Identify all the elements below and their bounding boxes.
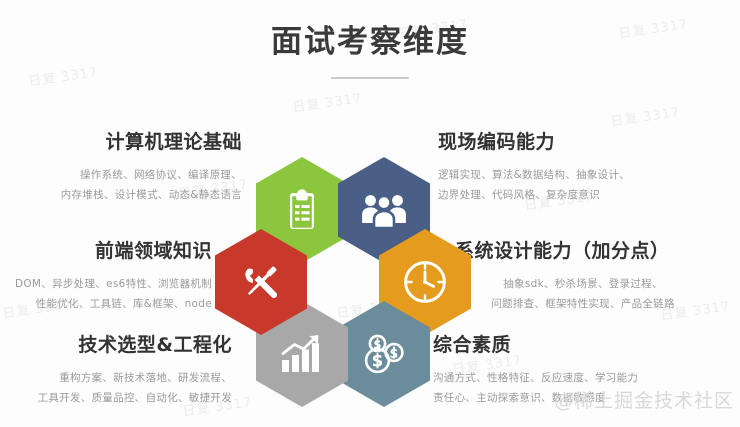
dimension-detail-line: 边界处理、代码风格、复杂度意识 [438,185,688,205]
dimension-title: 现场编码能力 [438,131,688,154]
dimension-title: 系统设计能力（加分点） [455,240,705,263]
dimension-detail-line: 操作系统、网络协议、编译原理、 [0,165,242,185]
dimension-detail-line: DOM、异步处理、es6特性、浏览器机制 [0,274,212,294]
dimension-block-coding: 现场编码能力 逻辑实现、算法&数据结构、抽象设计、 边界处理、代码风格、复杂度意… [438,131,688,206]
watermark-tile: 日复 3317 [291,87,363,116]
clipboard-icon [282,188,322,232]
dimension-detail-line: 重构方案、新技术落地、研发流程、 [0,368,232,388]
dimension-detail-line: 性能优化、工具链、库&框架、node [0,294,212,314]
dimension-title: 综合素质 [433,334,683,357]
bar-chart-icon [279,333,325,375]
dimension-detail-line: 问题排查、框架特性实现、产品全链路 [455,294,705,314]
clock-icon [402,259,448,305]
dimension-block-theory: 计算机理论基础 操作系统、网络协议、编译原理、 内存堆栈、设计模式、动态&静态语… [0,131,242,206]
people-icon [360,191,408,229]
dimension-detail-line: 责任心、主动探索意识、数据敏感度 [433,388,683,408]
dimension-title: 计算机理论基础 [0,131,242,154]
dimension-block-engineering: 技术选型&工程化 重构方案、新技术落地、研发流程、 工具开发、质量品控、自动化、… [0,334,232,409]
slide-header: 面试考察维度 [0,24,740,79]
money-icon: S S S [361,333,407,375]
dimension-detail-line: 逻辑实现、算法&数据结构、抽象设计、 [438,165,688,185]
title-divider [331,77,409,79]
dimension-title: 前端领域知识 [0,240,212,263]
dimension-title: 技术选型&工程化 [0,334,232,357]
dimension-block-frontend: 前端领域知识 DOM、异步处理、es6特性、浏览器机制 性能优化、工具链、库&框… [0,240,212,315]
watermark-tile: 日复 3317 [609,101,681,130]
dimension-detail-line: 工具开发、质量品控、自动化、敏捷开发 [0,388,232,408]
tools-icon [238,259,284,305]
dimension-block-overall-quality: 综合素质 沟通方式、性格特征、反应速度、学习能力 责任心、主动探索意识、数据敏感… [433,334,683,409]
dimension-detail-line: 沟通方式、性格特征、反应速度、学习能力 [433,368,683,388]
slide-canvas: 日复 3317 日复 3317 日复 3317 日复 3317 日复 3317 … [0,0,740,427]
dimension-block-system-design: 系统设计能力（加分点） 抽象sdk、秒杀场景、登录过程、 问题排查、框架特性实现… [455,240,705,315]
hexagon-cluster: S S S [214,157,440,383]
page-title: 面试考察维度 [0,24,740,61]
dimension-detail-line: 内存堆栈、设计模式、动态&静态语言 [0,185,242,205]
dimension-detail-line: 抽象sdk、秒杀场景、登录过程、 [455,274,705,294]
